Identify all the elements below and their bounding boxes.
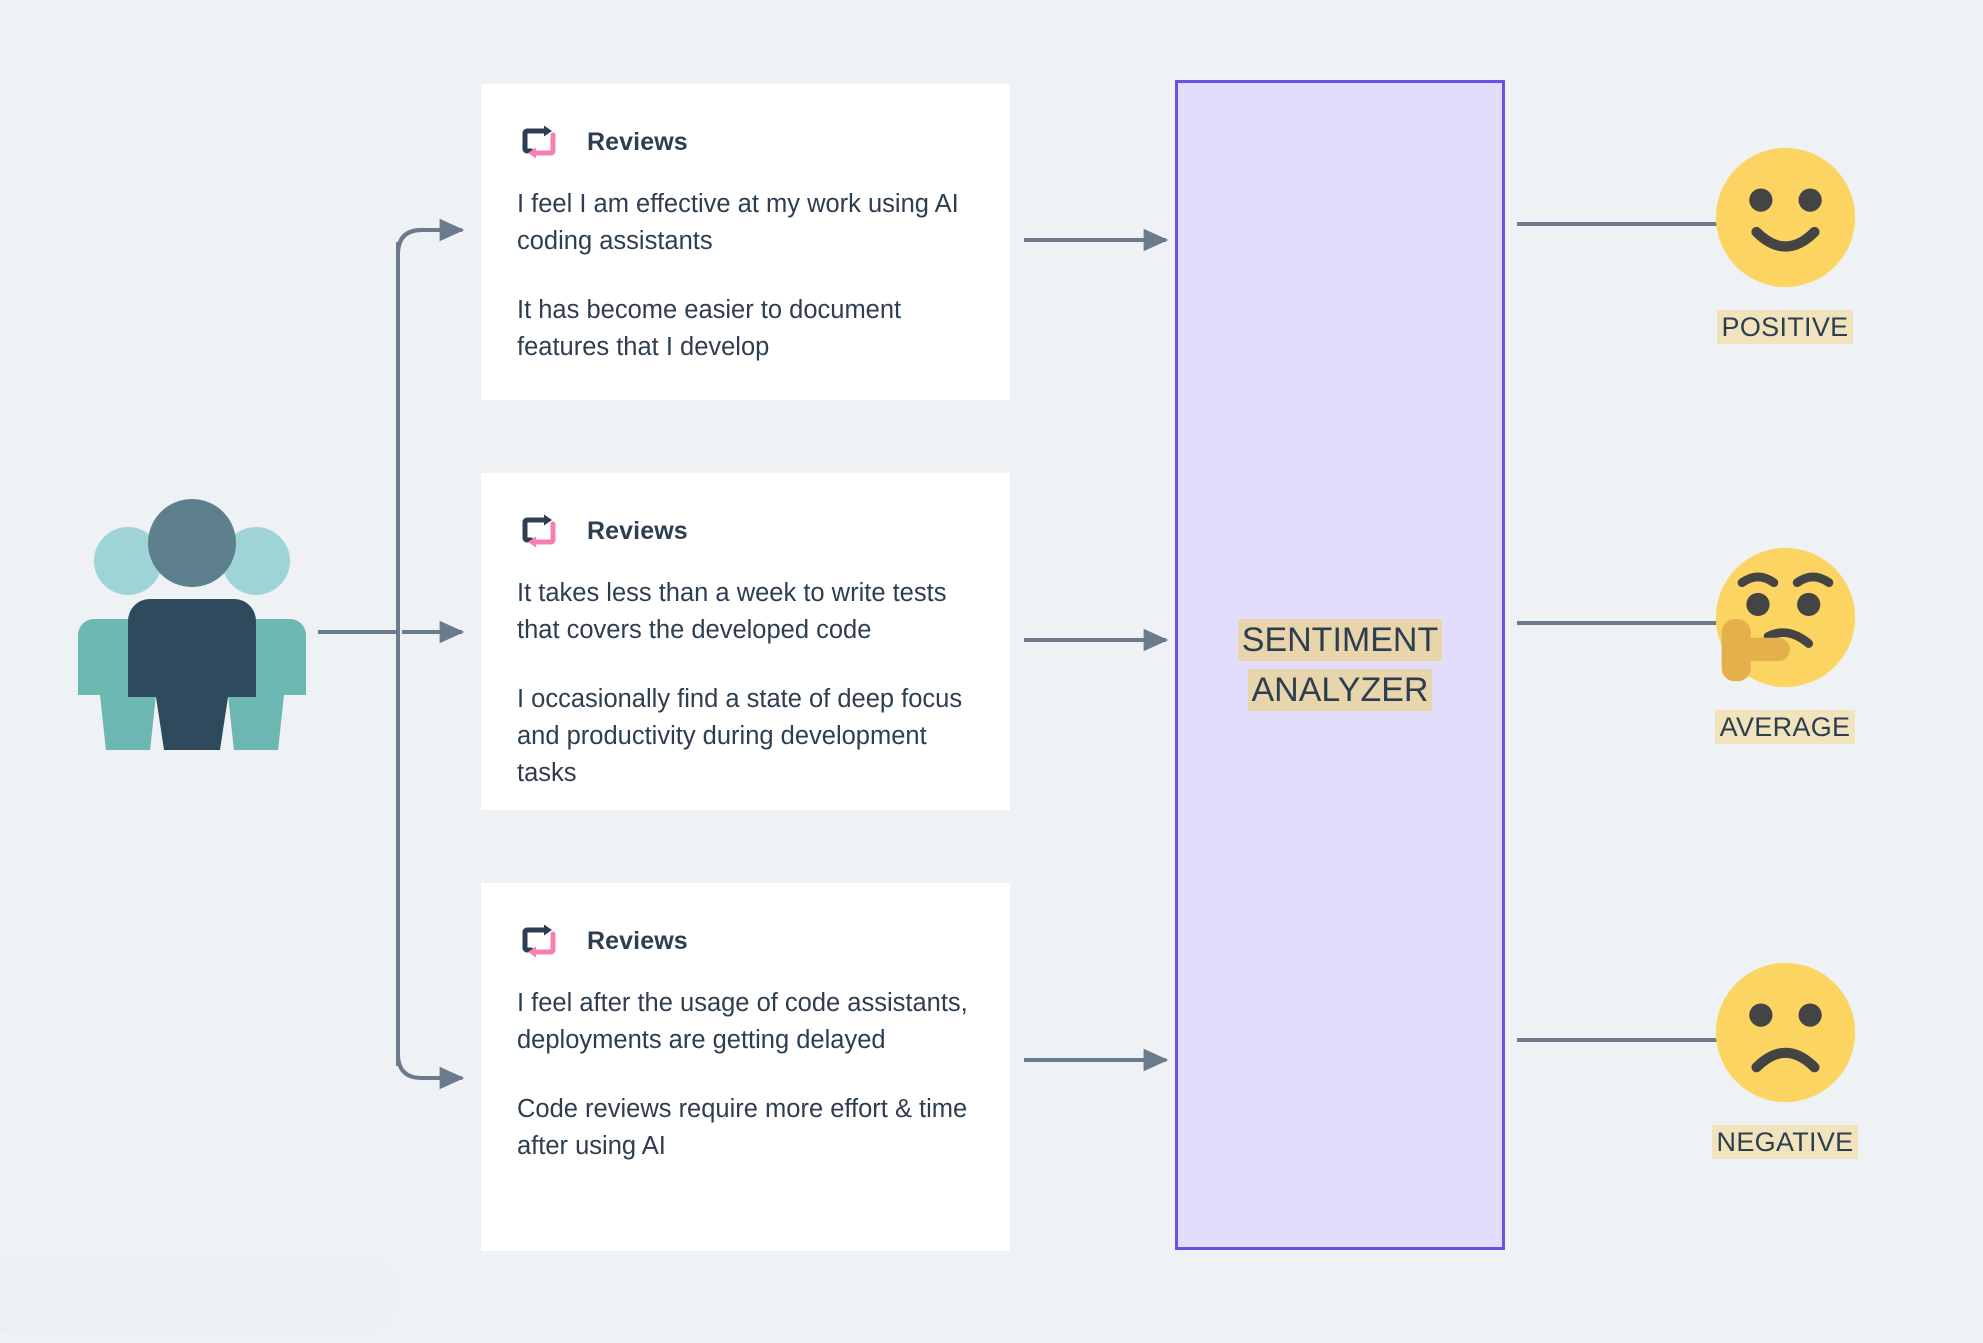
sentiment-output-negative: NEGATIVE	[1640, 960, 1930, 1158]
repeat-loop-icon	[517, 923, 561, 959]
review-card-header: Reviews	[517, 923, 974, 959]
review-quote: I feel I am effective at my work using A…	[517, 186, 974, 260]
review-card-body: It takes less than a week to write tests…	[517, 575, 974, 792]
diagram-canvas: Reviews I feel I am effective at my work…	[0, 0, 1983, 1343]
review-card[interactable]: Reviews I feel I am effective at my work…	[481, 84, 1010, 400]
review-quote: Code reviews require more effort & time …	[517, 1091, 974, 1165]
sentiment-output-positive: POSITIVE	[1640, 145, 1930, 343]
review-card-body: I feel I am effective at my work using A…	[517, 186, 974, 366]
review-card-title: Reviews	[587, 128, 688, 157]
review-card-header: Reviews	[517, 124, 974, 160]
review-card-title: Reviews	[587, 927, 688, 956]
smiling-face-icon	[1713, 145, 1858, 290]
sentiment-label: POSITIVE	[1717, 312, 1854, 343]
background-watermark	[0, 1255, 400, 1333]
repeat-loop-icon	[517, 513, 561, 549]
repeat-loop-icon	[517, 124, 561, 160]
group-of-people-icon	[72, 495, 312, 750]
review-quote: It takes less than a week to write tests…	[517, 575, 974, 649]
analyzer-line-2: ANALYZER	[1248, 669, 1433, 711]
sentiment-output-average: AVERAGE	[1640, 545, 1930, 743]
review-card-body: I feel after the usage of code assistant…	[517, 985, 974, 1165]
review-quote: I feel after the usage of code assistant…	[517, 985, 974, 1059]
frowning-face-icon	[1713, 960, 1858, 1105]
review-card-header: Reviews	[517, 513, 974, 549]
analyzer-line-1: SENTIMENT	[1238, 619, 1442, 661]
review-quote: I occasionally find a state of deep focu…	[517, 681, 974, 792]
sentiment-label: NEGATIVE	[1712, 1127, 1859, 1158]
thinking-face-icon	[1713, 545, 1858, 690]
review-card[interactable]: Reviews I feel after the usage of code a…	[481, 883, 1010, 1251]
sentiment-analyzer-label: SENTIMENT ANALYZER	[1238, 615, 1442, 715]
sentiment-analyzer-box[interactable]: SENTIMENT ANALYZER	[1175, 80, 1505, 1250]
sentiment-label: AVERAGE	[1715, 712, 1856, 743]
review-card[interactable]: Reviews It takes less than a week to wri…	[481, 473, 1010, 810]
review-card-title: Reviews	[587, 517, 688, 546]
review-quote: It has become easier to document feature…	[517, 292, 974, 366]
